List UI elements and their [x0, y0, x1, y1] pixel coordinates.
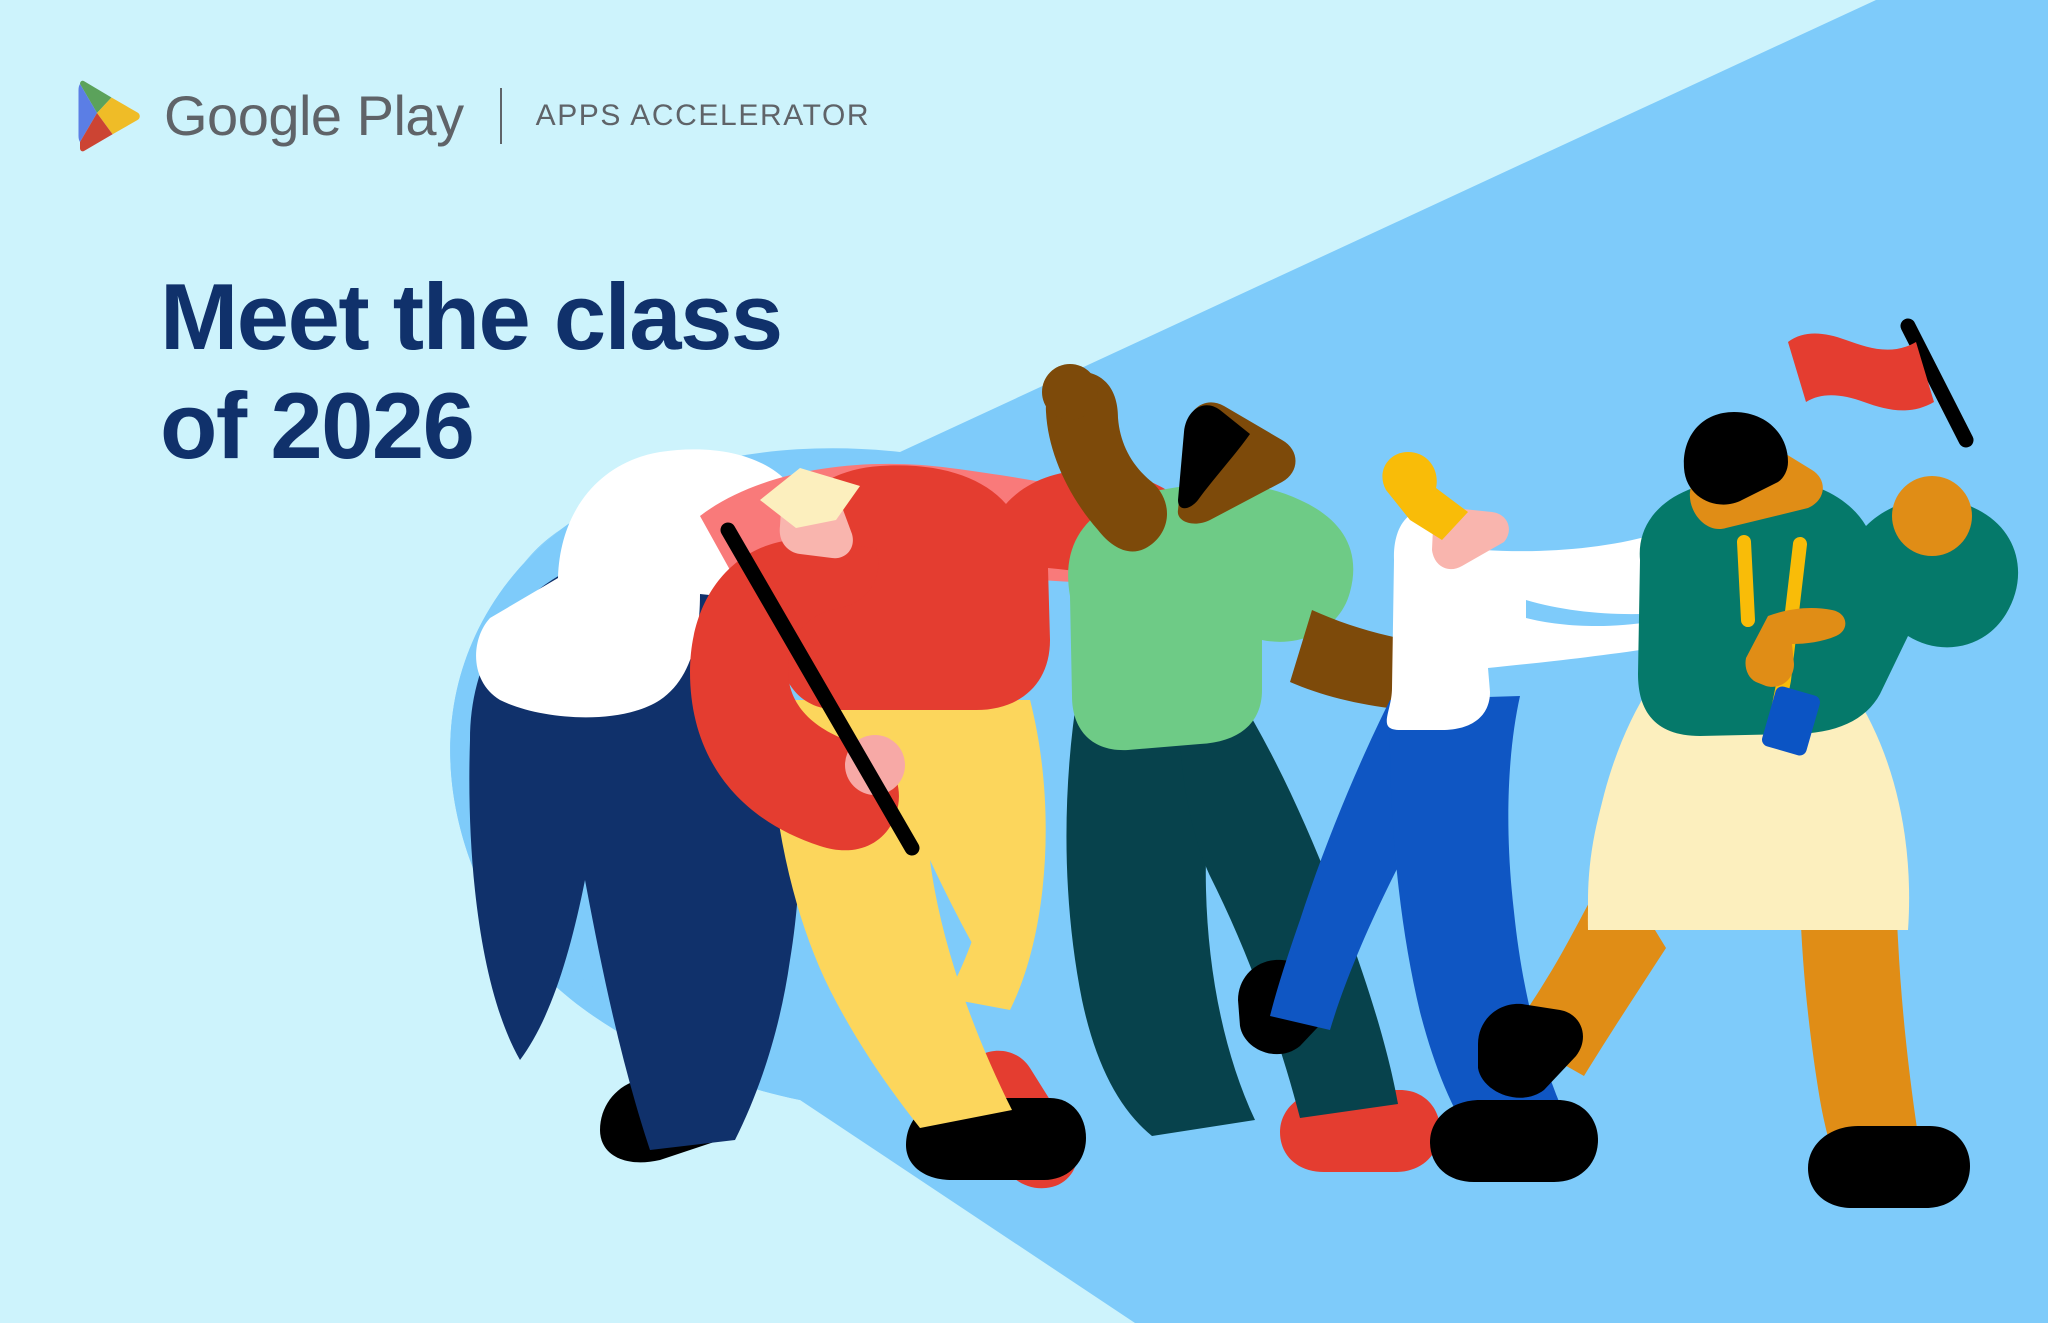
background-diagonal-shape: [0, 0, 2048, 1323]
google-play-wordmark: Google Play: [164, 88, 464, 144]
google-play-apps-accelerator-lockup: Google Play APPS ACCELERATOR: [76, 80, 870, 152]
page-title: Meet the class of 2026: [160, 262, 782, 480]
apps-accelerator-banner: Google Play APPS ACCELERATOR Meet the cl…: [0, 0, 2048, 1323]
apps-accelerator-label: APPS ACCELERATOR: [536, 99, 871, 133]
google-play-triangle-icon: [76, 80, 142, 152]
lockup-divider: [500, 88, 502, 144]
